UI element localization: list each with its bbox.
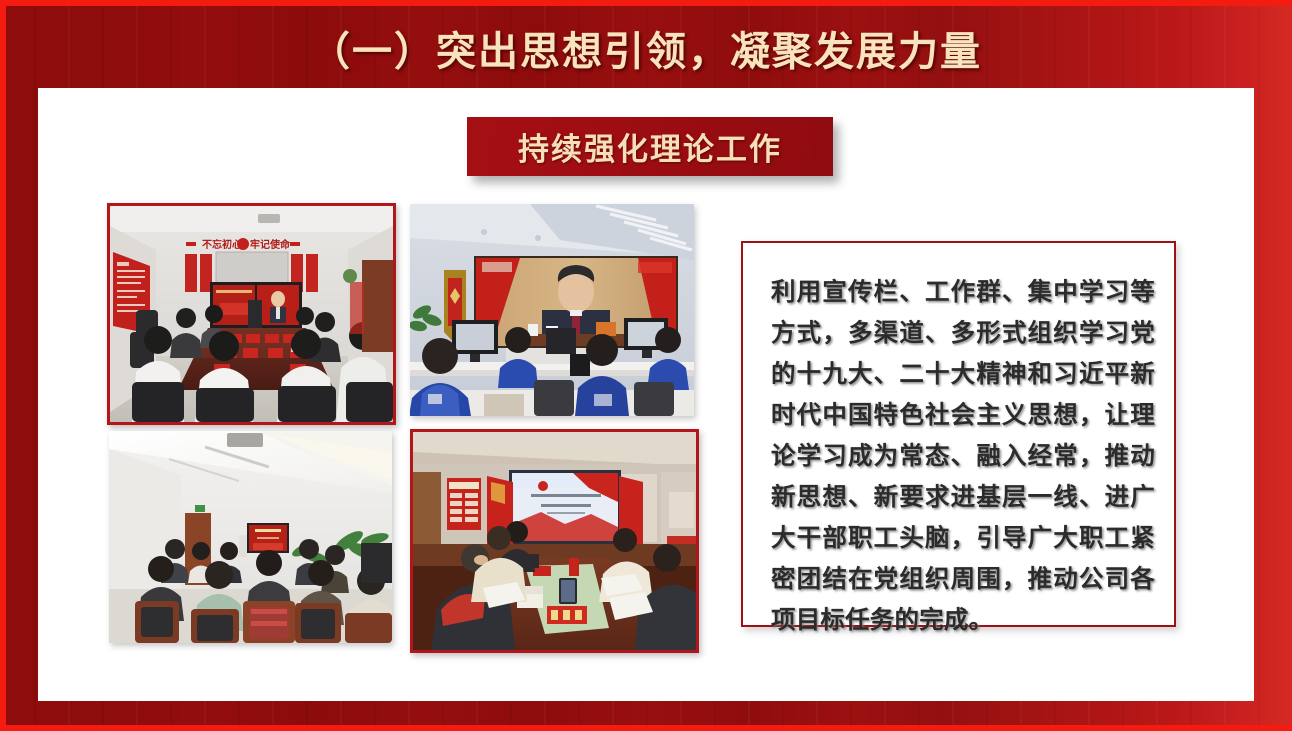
photo-roundtable-study: [410, 429, 699, 653]
content-card: 持续强化理论工作: [38, 88, 1254, 701]
photo-roundtable-study-image: [413, 432, 696, 650]
slide-edge-left: [0, 0, 6, 731]
page-title: （一）突出思想引领，凝聚发展力量: [0, 19, 1292, 77]
section-banner-label: 持续强化理论工作: [518, 124, 782, 169]
photo-office-screen-broadcast-image: [410, 204, 694, 416]
slide-edge-bottom: [0, 725, 1292, 731]
photo-meeting-room-broadcast-image: 不忘初心 牢记使命: [110, 206, 393, 422]
presentation-slide: （一）突出思想引领，凝聚发展力量 持续强化理论工作: [0, 0, 1292, 731]
photo-hall-viewing-image: [109, 431, 392, 643]
body-text-paragraph: 利用宣传栏、工作群、集中学习等方式，多渠道、多形式组织学习党的十九大、二十大精神…: [771, 272, 1155, 641]
slide-edge-top: [0, 0, 1292, 6]
svg-text:不忘初心: 不忘初心: [202, 238, 242, 251]
photo-meeting-room-broadcast: 不忘初心 牢记使命: [107, 203, 396, 425]
photo-hall-viewing: [109, 431, 392, 643]
section-banner: 持续强化理论工作: [467, 117, 833, 176]
photo-office-screen-broadcast: [410, 204, 694, 416]
body-text-box: 利用宣传栏、工作群、集中学习等方式，多渠道、多形式组织学习党的十九大、二十大精神…: [741, 241, 1176, 627]
svg-text:牢记使命: 牢记使命: [250, 238, 291, 251]
